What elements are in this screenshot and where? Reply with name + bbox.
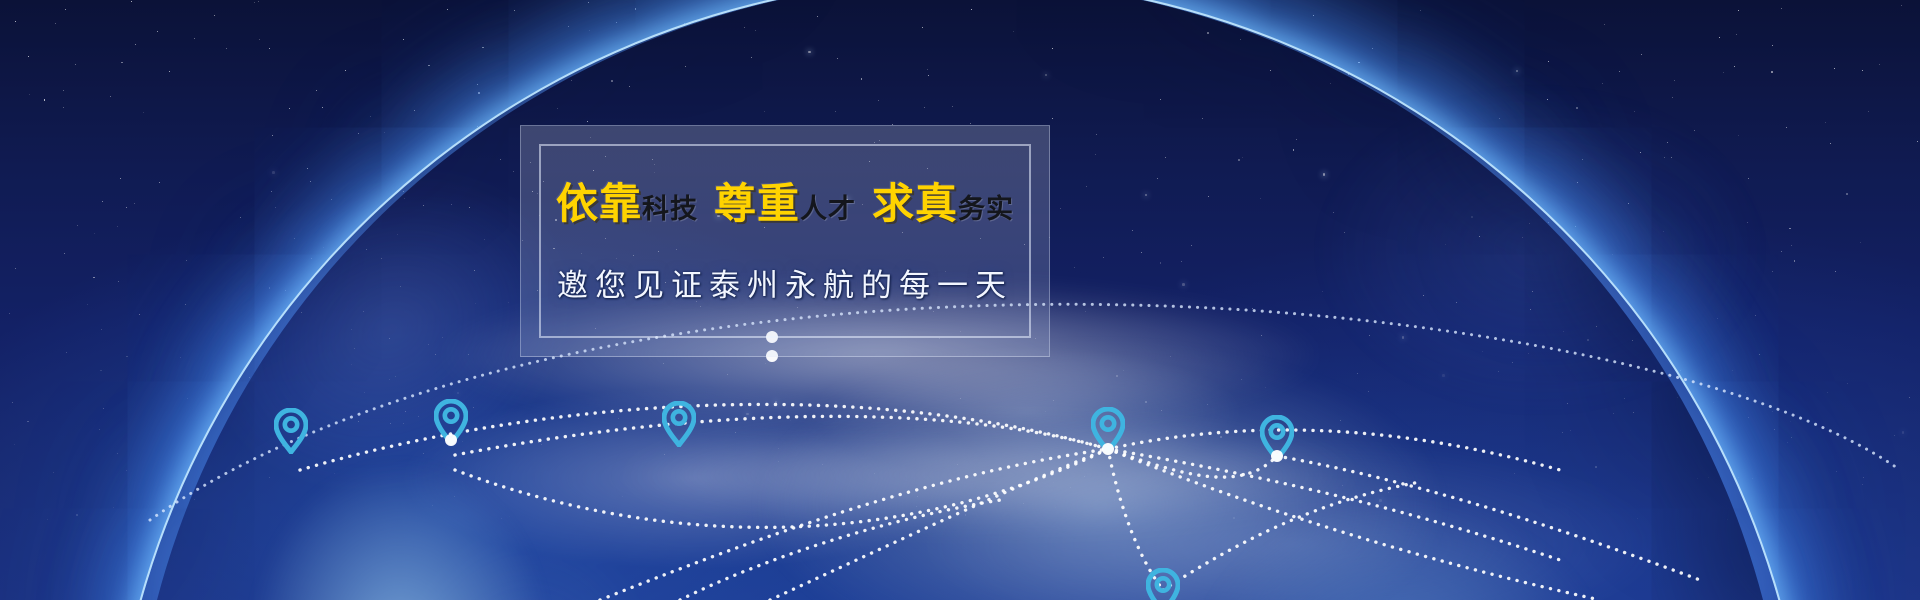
map-pin-icon <box>662 401 696 447</box>
slogan-primary: 依靠科技尊重人才求真务实 <box>521 184 1049 226</box>
node-pacific[interactable] <box>1270 449 1284 463</box>
pin-south[interactable] <box>1146 568 1180 600</box>
node-atlantic[interactable] <box>444 433 458 447</box>
node-asia[interactable] <box>1101 442 1115 456</box>
network-node-icon <box>444 433 458 447</box>
slogan-secondary: 邀您见证泰州永航的每一天 <box>521 260 1049 305</box>
cloud-band-mid <box>610 420 1370 530</box>
network-node-icon <box>1270 449 1284 463</box>
slogan-seg-4: 人才 <box>800 194 856 224</box>
map-pin-icon <box>1146 568 1180 600</box>
slogan-seg-0: 依靠 <box>556 182 642 228</box>
hero-banner: .arc{fill:none;stroke:#ffffff;stroke-wid… <box>0 0 1920 600</box>
slogan-seg-6: 求真 <box>872 182 958 228</box>
headline-panel-content: 依靠科技尊重人才求真务实 邀您见证泰州永航的每一天 <box>521 184 1049 305</box>
pin-africa[interactable] <box>662 401 696 447</box>
headline-panel: 依靠科技尊重人才求真务实 邀您见证泰州永航的每一天 <box>520 125 1050 357</box>
map-pin-icon <box>274 408 308 454</box>
pin-west-atlantic[interactable] <box>274 408 308 454</box>
network-node-icon <box>1101 442 1115 456</box>
slogan-seg-3: 尊重 <box>714 182 800 228</box>
slogan-seg-7: 务实 <box>958 194 1014 224</box>
slogan-seg-1: 科技 <box>642 194 698 224</box>
